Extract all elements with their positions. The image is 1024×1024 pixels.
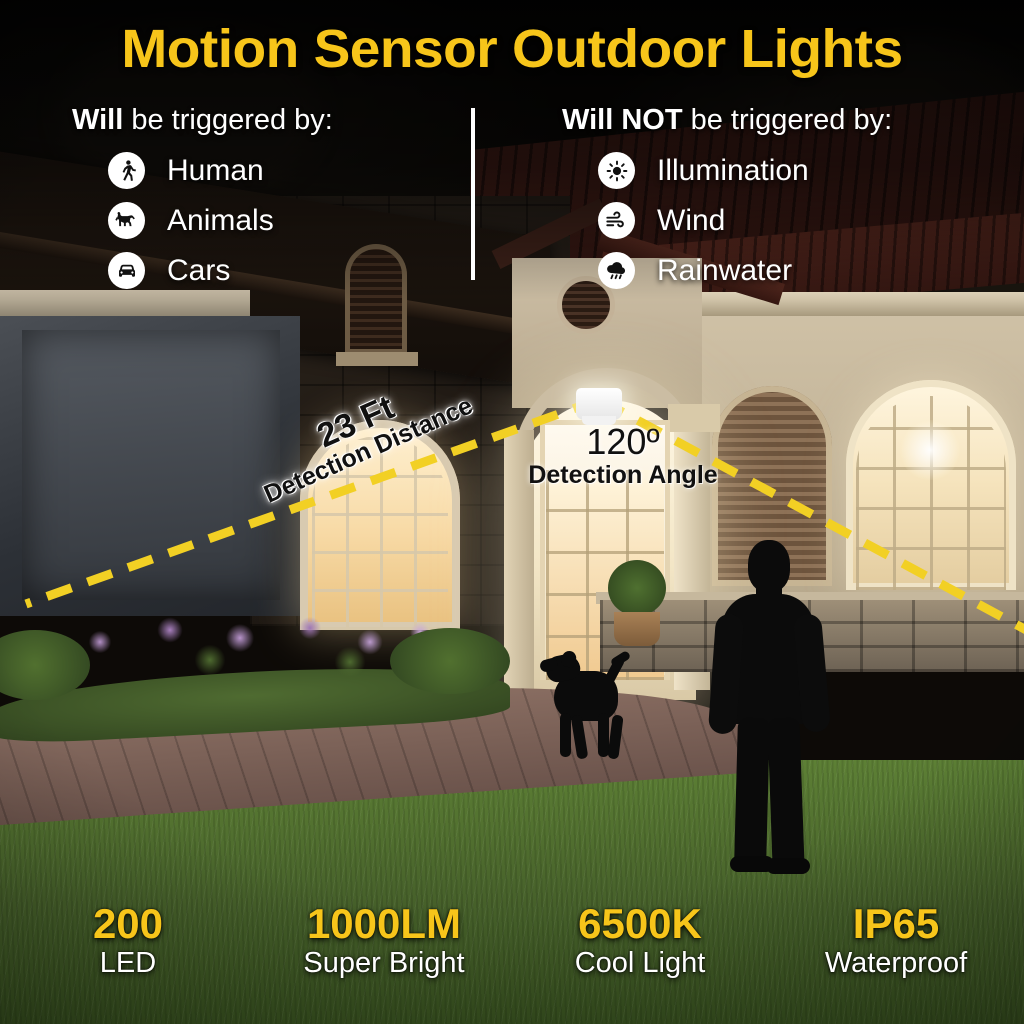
spec-label: LED — [0, 946, 256, 981]
non-trigger-label-rainwater: Rainwater — [657, 254, 792, 288]
trigger-item-animals[interactable]: Animals — [108, 202, 274, 239]
trigger-label-human: Human — [167, 154, 264, 188]
car-icon — [108, 252, 145, 289]
spec-item-color-temp: 6500K Cool Light — [512, 902, 768, 981]
spec-value: 200 — [0, 902, 256, 946]
right-heading-bold: Will NOT — [562, 104, 683, 136]
non-trigger-label-illumination: Illumination — [657, 154, 809, 188]
spec-bar: 200 LED 1000LM Super Bright 6500K Cool L… — [0, 902, 1024, 981]
spec-label: Waterproof — [768, 946, 1024, 981]
trigger-label-cars: Cars — [167, 254, 230, 288]
spec-label: Cool Light — [512, 946, 768, 981]
detection-angle-callout: 120º Detection Angle — [508, 424, 738, 489]
trigger-item-cars[interactable]: Cars — [108, 252, 230, 289]
spec-item-lumens: 1000LM Super Bright — [256, 902, 512, 981]
non-trigger-item-illumination[interactable]: Illumination — [598, 152, 809, 189]
non-trigger-item-rainwater[interactable]: Rainwater — [598, 252, 792, 289]
column-divider — [471, 108, 475, 280]
spec-value: 1000LM — [256, 902, 512, 946]
trigger-item-human[interactable]: Human — [108, 152, 264, 189]
spec-label: Super Bright — [256, 946, 512, 981]
non-trigger-label-wind: Wind — [657, 204, 725, 238]
sun-icon — [598, 152, 635, 189]
rain-cloud-icon — [598, 252, 635, 289]
dog-icon — [108, 202, 145, 239]
product-feature-image: Motion Sensor Outdoor Lights Will be tri… — [0, 0, 1024, 1024]
left-heading-rest: be triggered by: — [123, 104, 333, 136]
trigger-label-animals: Animals — [167, 204, 274, 238]
detection-angle-label: Detection Angle — [508, 461, 738, 490]
detection-angle-value: 120º — [508, 424, 738, 461]
right-column-heading: Will NOT be triggered by: — [562, 104, 892, 137]
non-trigger-item-wind[interactable]: Wind — [598, 202, 725, 239]
spec-item-ip-rating: IP65 Waterproof — [768, 902, 1024, 981]
spec-value: 6500K — [512, 902, 768, 946]
left-heading-bold: Will — [72, 104, 123, 136]
right-heading-rest: be triggered by: — [683, 104, 893, 136]
page-title: Motion Sensor Outdoor Lights — [0, 18, 1024, 80]
spec-item-led: 200 LED — [0, 902, 256, 981]
wind-icon — [598, 202, 635, 239]
left-column-heading: Will be triggered by: — [72, 104, 333, 137]
walking-person-icon — [108, 152, 145, 189]
spec-value: IP65 — [768, 902, 1024, 946]
